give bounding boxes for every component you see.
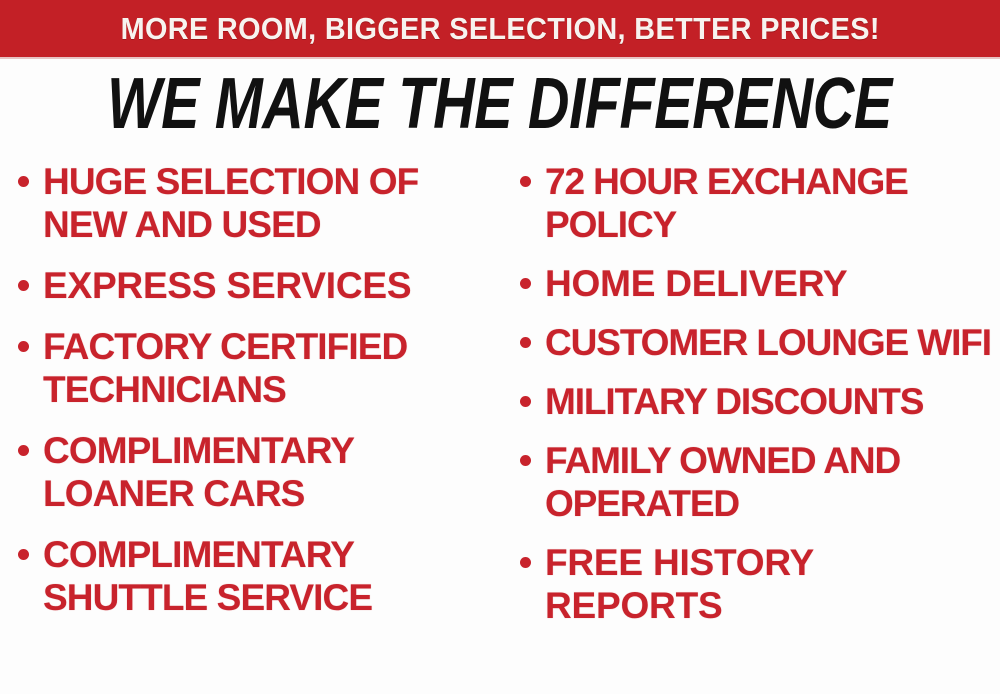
bullet-dot-icon (520, 337, 531, 348)
bullet-dot-icon (18, 341, 29, 352)
list-item: COMPLIMENTARY SHUTTLE SERVICE (18, 533, 496, 619)
list-item-label: FREE HISTORY REPORTS (545, 541, 996, 627)
list-item-label: CUSTOMER LOUNGE WIFI (545, 321, 996, 364)
list-item-label: COMPLIMENTARY LOANER CARS (43, 429, 496, 515)
list-item-label: 72 HOUR EXCHANGE POLICY (545, 160, 996, 246)
banner-underline-divider (0, 57, 1000, 59)
bullet-dot-icon (18, 445, 29, 456)
list-item-label: MILITARY DISCOUNTS (545, 380, 996, 423)
list-item: HOME DELIVERY (520, 262, 996, 305)
bullet-dot-icon (520, 557, 531, 568)
bullet-dot-icon (520, 396, 531, 407)
headline: WE MAKE THE DIFFERENCE (0, 68, 1000, 140)
headline-text: WE MAKE THE DIFFERENCE (108, 68, 893, 140)
list-item: CUSTOMER LOUNGE WIFI (520, 321, 996, 364)
list-item: HUGE SELECTION OF NEW AND USED (18, 160, 496, 246)
benefits-column-left: HUGE SELECTION OF NEW AND USED EXPRESS S… (0, 160, 500, 637)
list-item: FREE HISTORY REPORTS (520, 541, 996, 627)
bullet-dot-icon (18, 176, 29, 187)
list-item: MILITARY DISCOUNTS (520, 380, 996, 423)
promo-poster: MORE ROOM, BIGGER SELECTION, BETTER PRIC… (0, 0, 1000, 694)
list-item-label: HUGE SELECTION OF NEW AND USED (43, 160, 496, 246)
top-banner-text: MORE ROOM, BIGGER SELECTION, BETTER PRIC… (120, 13, 879, 44)
benefits-columns: HUGE SELECTION OF NEW AND USED EXPRESS S… (0, 160, 1000, 694)
bullet-dot-icon (520, 278, 531, 289)
list-item-label: FAMILY OWNED AND OPERATED (545, 439, 996, 525)
bullet-dot-icon (18, 549, 29, 560)
benefits-column-right: 72 HOUR EXCHANGE POLICY HOME DELIVERY CU… (500, 160, 1000, 643)
list-item-label: HOME DELIVERY (545, 262, 996, 305)
list-item-label: EXPRESS SERVICES (43, 264, 496, 307)
list-item-label: COMPLIMENTARY SHUTTLE SERVICE (43, 533, 496, 619)
list-item-label: FACTORY CERTIFIED TECHNICIANS (43, 325, 496, 411)
list-item: FAMILY OWNED AND OPERATED (520, 439, 996, 525)
list-item: EXPRESS SERVICES (18, 264, 496, 307)
list-item: COMPLIMENTARY LOANER CARS (18, 429, 496, 515)
bullet-dot-icon (18, 280, 29, 291)
bullet-dot-icon (520, 176, 531, 187)
top-banner: MORE ROOM, BIGGER SELECTION, BETTER PRIC… (0, 0, 1000, 57)
list-item: 72 HOUR EXCHANGE POLICY (520, 160, 996, 246)
list-item: FACTORY CERTIFIED TECHNICIANS (18, 325, 496, 411)
bullet-dot-icon (520, 455, 531, 466)
